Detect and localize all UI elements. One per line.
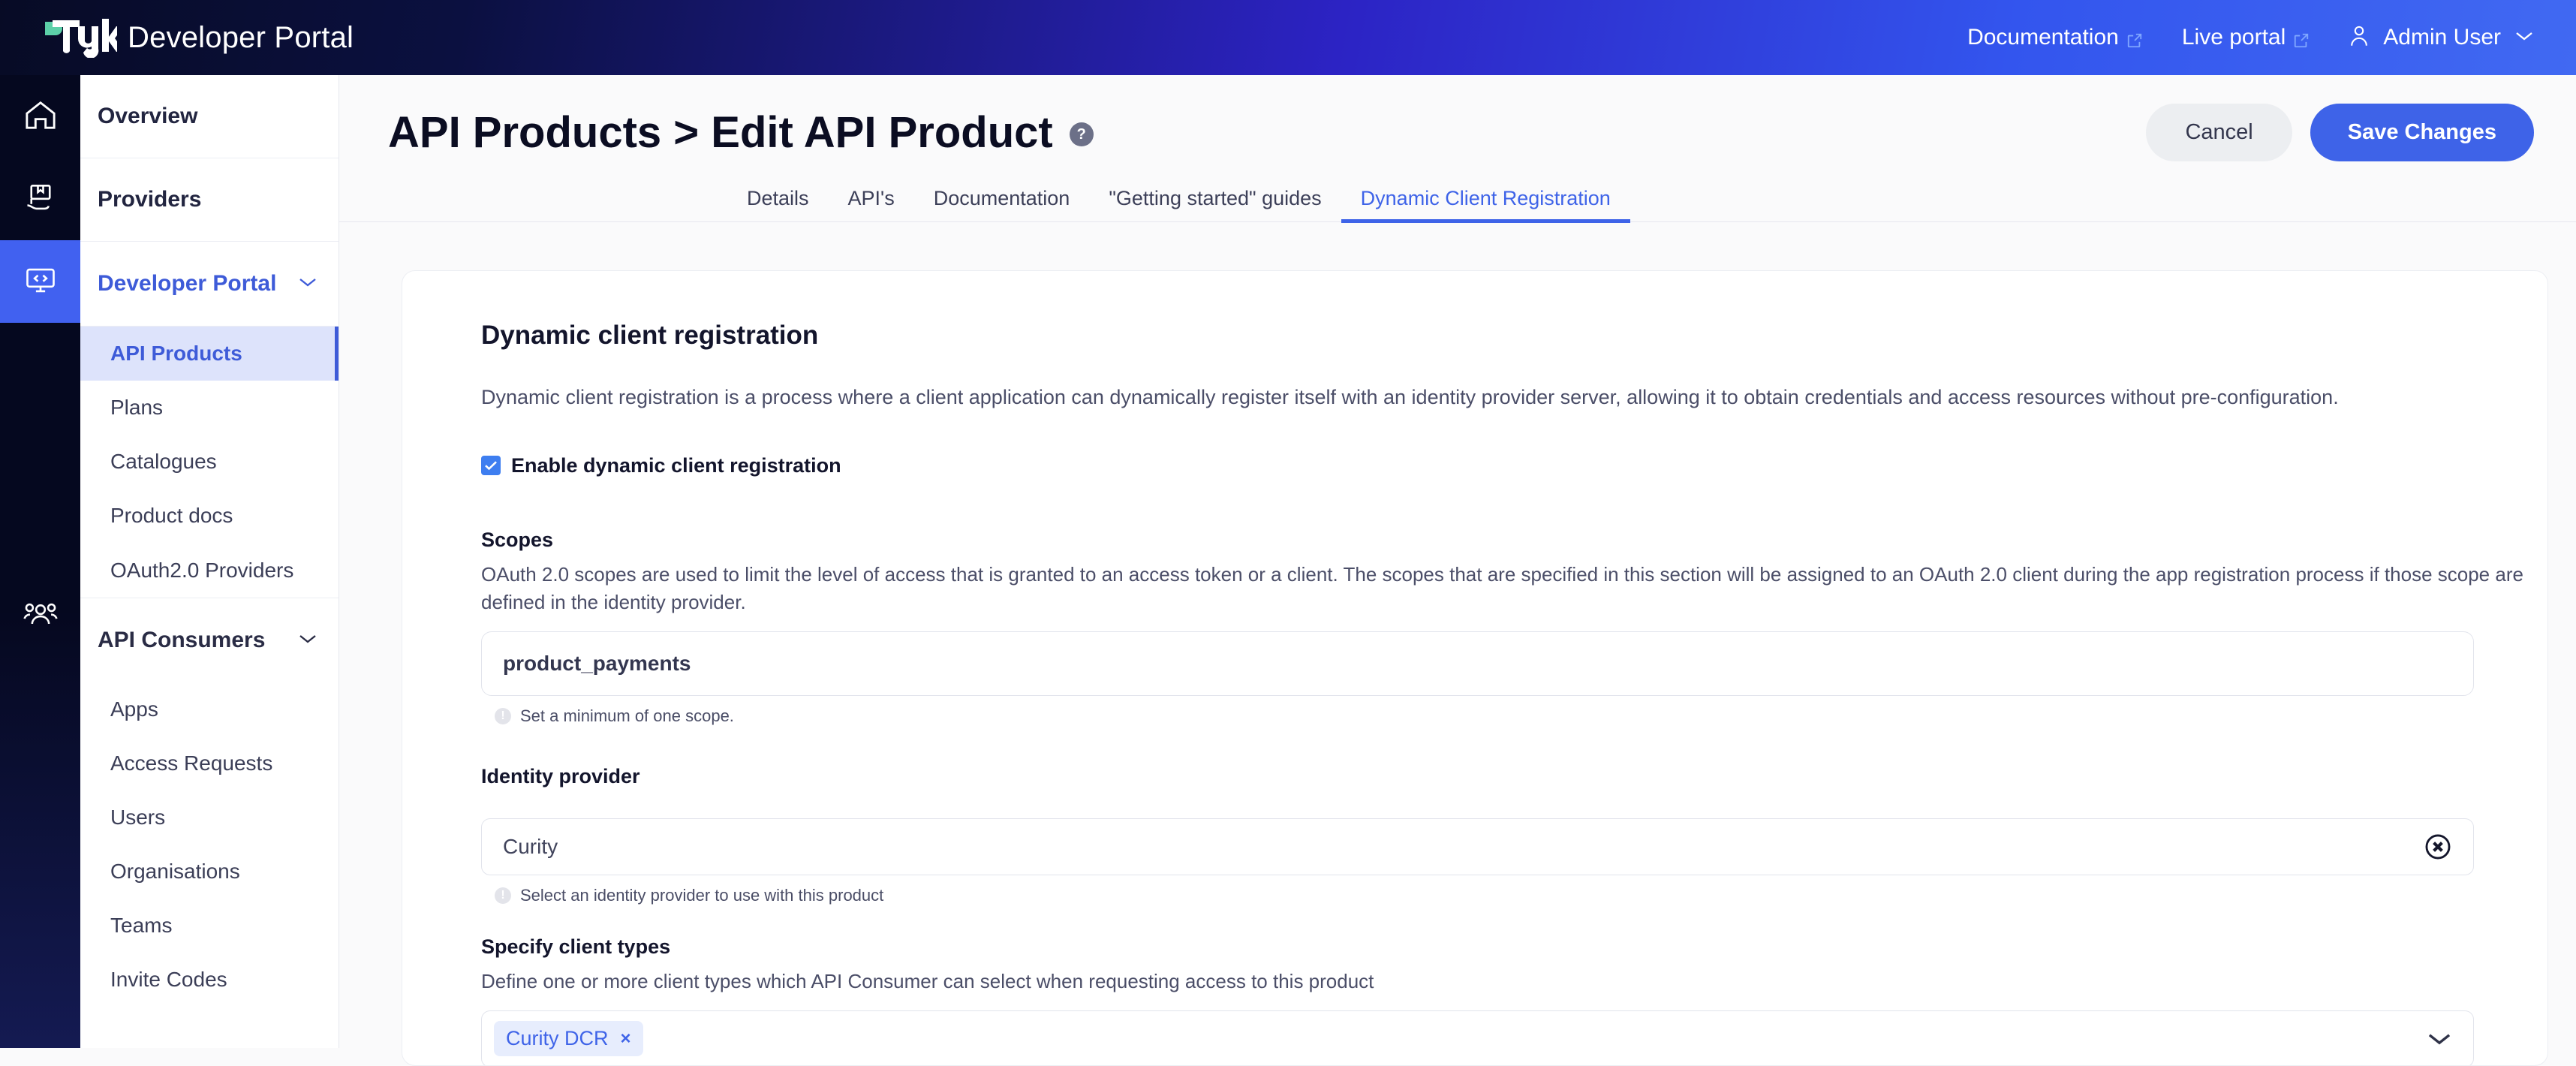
documentation-link-label: Documentation — [1967, 25, 2119, 50]
help-icon[interactable]: ? — [1070, 122, 1094, 146]
clear-circle-icon[interactable] — [2424, 833, 2452, 861]
client-type-chip-label: Curity DCR — [506, 1027, 609, 1050]
rail-item-developer-portal[interactable] — [0, 240, 80, 323]
scopes-input-value: product_payments — [503, 652, 691, 676]
tab-apis[interactable]: API's — [829, 187, 914, 222]
sidebar-item-access-requests[interactable]: Access Requests — [80, 736, 339, 790]
home-icon — [23, 99, 58, 134]
rail-spacer — [0, 491, 80, 575]
scopes-helper: ! Set a minimum of one scope. — [495, 706, 2547, 726]
tab-getting-started-guides[interactable]: "Getting started" guides — [1089, 187, 1341, 222]
sidebar-item-label: Apps — [110, 697, 158, 721]
chevron-down-icon — [298, 276, 317, 292]
chip-remove-icon[interactable]: × — [621, 1028, 631, 1049]
sidebar-item-label: Overview — [98, 104, 197, 129]
save-changes-button[interactable]: Save Changes — [2310, 104, 2534, 161]
sidebar-item-label: Teams — [110, 914, 172, 938]
enable-dcr-label: Enable dynamic client registration — [511, 454, 841, 477]
sidebar-item-users[interactable]: Users — [80, 790, 339, 845]
sidebar-item-overview[interactable]: Overview — [80, 75, 339, 158]
developer-portal-icon — [23, 264, 59, 300]
checkbox-checked-icon[interactable] — [481, 456, 501, 475]
products-icon — [23, 182, 58, 217]
sidebar-group-developer-portal: Developer Portal — [80, 242, 339, 327]
sidebar-section-label: Developer Portal — [98, 271, 276, 297]
sidebar-item-label: Product docs — [110, 504, 233, 528]
user-menu[interactable]: Admin User — [2349, 25, 2534, 51]
scopes-helper-text: Set a minimum of one scope. — [520, 706, 734, 726]
rail-spacer — [0, 407, 80, 491]
sidebar-item-organisations[interactable]: Organisations — [80, 845, 339, 899]
rail-item-providers[interactable] — [0, 158, 80, 240]
brand-title: Developer Portal — [128, 21, 354, 55]
sidebar-item-apps[interactable]: Apps — [80, 682, 339, 736]
identity-provider-helper-text: Select an identity provider to use with … — [520, 886, 883, 905]
client-types-label: Specify client types — [481, 935, 2547, 959]
sidebar-item-product-docs[interactable]: Product docs — [80, 489, 339, 543]
page-title: API Products > Edit API Product ? — [388, 107, 1094, 158]
tab-bar: Details API's Documentation "Getting sta… — [339, 174, 2576, 222]
tab-dynamic-client-registration[interactable]: Dynamic Client Registration — [1341, 187, 1630, 222]
user-avatar-icon — [2349, 25, 2370, 51]
card-description: Dynamic client registration is a process… — [481, 384, 2547, 412]
live-portal-link[interactable]: Live portal — [2182, 25, 2310, 50]
sidebar-item-catalogues[interactable]: Catalogues — [80, 435, 339, 489]
sidebar-section-developer-portal[interactable]: Developer Portal — [80, 242, 339, 326]
sidebar-item-teams[interactable]: Teams — [80, 899, 339, 953]
page-header: API Products > Edit API Product ? Cancel… — [339, 75, 2576, 189]
sidebar: Overview Providers Developer Portal API … — [80, 75, 339, 1048]
sidebar-section-api-consumers[interactable]: API Consumers — [80, 598, 339, 682]
sidebar-item-invite-codes[interactable]: Invite Codes — [80, 953, 339, 1007]
client-types-description: Define one or more client types which AP… — [481, 968, 2547, 995]
chevron-down-icon — [2514, 30, 2534, 46]
sidebar-item-oauth2-providers[interactable]: OAuth2.0 Providers — [80, 543, 339, 598]
sidebar-item-api-products[interactable]: API Products — [80, 327, 339, 381]
rail-item-home[interactable] — [0, 75, 80, 158]
sidebar-item-label: Users — [110, 806, 165, 830]
identity-provider-input[interactable]: Curity — [481, 818, 2474, 875]
dynamic-client-registration-card: Dynamic client registration Dynamic clie… — [402, 270, 2548, 1066]
sidebar-item-label: Invite Codes — [110, 968, 227, 992]
cancel-button[interactable]: Cancel — [2146, 104, 2292, 161]
sidebar-item-providers[interactable]: Providers — [80, 158, 339, 241]
warning-icon: ! — [495, 708, 511, 724]
chevron-down-icon[interactable] — [2427, 1031, 2452, 1047]
sidebar-item-label: API Products — [110, 342, 242, 366]
live-portal-link-label: Live portal — [2182, 25, 2286, 50]
tab-details[interactable]: Details — [727, 187, 829, 222]
client-types-multiselect[interactable]: Curity DCR × — [481, 1010, 2474, 1066]
sidebar-item-label: Access Requests — [110, 751, 272, 775]
identity-provider-helper: ! Select an identity provider to use wit… — [495, 886, 2547, 905]
identity-provider-label: Identity provider — [481, 765, 2547, 788]
user-name: Admin User — [2383, 25, 2501, 50]
enable-dcr-checkbox-row[interactable]: Enable dynamic client registration — [481, 454, 2547, 477]
card-heading: Dynamic client registration — [481, 321, 2547, 351]
client-type-chip[interactable]: Curity DCR × — [494, 1021, 643, 1056]
sidebar-item-plans[interactable]: Plans — [80, 381, 339, 435]
chevron-down-icon — [298, 633, 317, 649]
external-link-icon — [2126, 29, 2143, 46]
sidebar-item-label: Plans — [110, 396, 163, 420]
external-link-icon — [2293, 29, 2310, 46]
identity-provider-value: Curity — [503, 835, 558, 859]
brand[interactable]: Developer Portal — [0, 17, 354, 58]
scopes-description: OAuth 2.0 scopes are used to limit the l… — [481, 561, 2547, 616]
scopes-input[interactable]: product_payments — [481, 631, 2474, 696]
api-consumers-icon — [23, 600, 59, 634]
tab-documentation[interactable]: Documentation — [914, 187, 1090, 222]
top-bar-actions: Documentation Live portal — [1967, 25, 2576, 51]
page-header-actions: Cancel Save Changes — [2146, 104, 2534, 161]
sidebar-group-overview: Overview — [80, 75, 339, 158]
warning-icon: ! — [495, 887, 511, 904]
sidebar-section-label: API Consumers — [98, 628, 265, 653]
sidebar-item-label: Catalogues — [110, 450, 217, 474]
icon-rail — [0, 75, 80, 1048]
rail-item-api-consumers[interactable] — [0, 575, 80, 658]
rail-spacer — [0, 323, 80, 407]
scopes-label: Scopes — [481, 528, 2547, 552]
sidebar-group-providers: Providers — [80, 158, 339, 242]
sidebar-item-label: Providers — [98, 187, 201, 212]
tyk-logo-icon — [42, 17, 117, 58]
top-bar: Developer Portal Documentation Live port… — [0, 0, 2576, 75]
documentation-link[interactable]: Documentation — [1967, 25, 2143, 50]
page-title-text: API Products > Edit API Product — [388, 107, 1053, 158]
sidebar-item-label: Organisations — [110, 860, 240, 884]
sidebar-item-label: OAuth2.0 Providers — [110, 559, 293, 583]
